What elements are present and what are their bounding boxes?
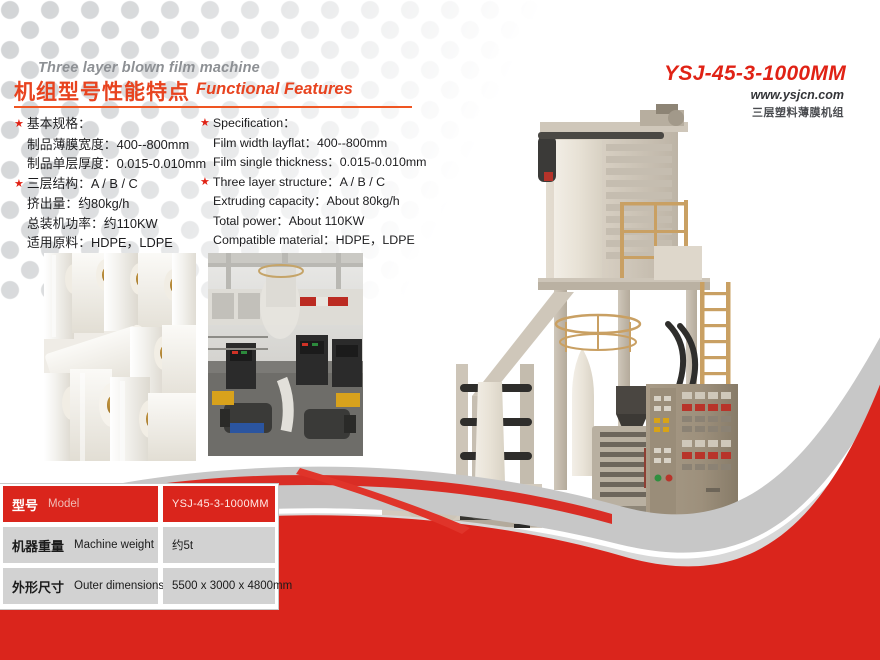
- spec-en-text: Compatible material：HDPE，LDPE: [213, 233, 415, 247]
- factory-photo: [208, 253, 363, 456]
- specifications-chinese: ★基本规格：制品薄膜宽度：400--800mm制品单层厚度：0.015-0.01…: [14, 114, 204, 253]
- star-bullet-icon: ★: [14, 178, 24, 190]
- spec-en-line: Compatible material：HDPE，LDPE: [200, 231, 415, 251]
- table-value: 5500 x 3000 x 4800mm: [172, 580, 292, 592]
- table-label-cell: 型号Model: [3, 486, 158, 522]
- star-bullet-icon: ★: [200, 176, 210, 188]
- spec-cn-text: 三层结构：A / B / C: [27, 176, 138, 191]
- spec-en-line: ★Specification：: [200, 114, 415, 134]
- page-title-en: Functional Features: [196, 80, 353, 99]
- table-label-cn: 外形尺寸: [12, 577, 64, 596]
- spec-en-line: Film single thickness：0.015-0.010mm: [200, 153, 415, 173]
- table-value: YSJ-45-3-1000MM: [172, 498, 269, 510]
- spec-en-text: Film width layflat：400--800mm: [213, 136, 387, 150]
- spec-cn-line: 制品薄膜宽度：400--800mm: [14, 135, 204, 155]
- spec-en-text: Total power：About 110KW: [213, 214, 364, 228]
- table-row: 型号ModelYSJ-45-3-1000MM: [3, 486, 275, 522]
- table-label-en: Outer dimensions: [74, 580, 164, 592]
- header-divider: [14, 106, 412, 108]
- spec-en-text: Specification：: [213, 116, 296, 130]
- spec-cn-line: 总装机功率：约110KW: [14, 214, 204, 234]
- spec-cn-text: 制品薄膜宽度：400--800mm: [27, 137, 189, 152]
- website-url: www.ysjcn.com: [751, 88, 844, 102]
- specifications-english: ★Specification：Film width layflat：400--8…: [200, 114, 415, 251]
- tagline: Three layer blown film machine: [38, 60, 260, 76]
- star-bullet-icon: ★: [14, 118, 24, 130]
- table-row: 外形尺寸Outer dimensions5500 x 3000 x 4800mm: [3, 568, 275, 604]
- table-value-cell: YSJ-45-3-1000MM: [163, 486, 275, 522]
- spec-table: 型号ModelYSJ-45-3-1000MM机器重量Machine weight…: [3, 486, 275, 609]
- subtitle-cn: 三层塑料薄膜机组: [752, 104, 844, 120]
- spec-cn-text: 总装机功率：约110KW: [27, 216, 158, 231]
- spec-en-line: ★Three layer structure：A / B / C: [200, 173, 415, 193]
- spec-cn-line: 挤出量：约80kg/h: [14, 194, 204, 214]
- machine-photo: [368, 96, 772, 528]
- spec-cn-line: ★三层结构：A / B / C: [14, 174, 204, 195]
- table-row: 机器重量Machine weight约5t: [3, 527, 275, 563]
- spec-cn-text: 挤出量：约80kg/h: [27, 196, 129, 211]
- table-label-cell: 外形尺寸Outer dimensions: [3, 568, 158, 604]
- spec-en-line: Total power：About 110KW: [200, 212, 415, 232]
- page-title-cn: 机组型号性能特点: [14, 76, 190, 106]
- spec-cn-line: ★基本规格：: [14, 114, 204, 135]
- model-number: YSJ-45-3-1000MM: [664, 62, 846, 86]
- spec-en-text: Extruding capacity：About 80kg/h: [213, 194, 400, 208]
- table-label-cell: 机器重量Machine weight: [3, 527, 158, 563]
- spec-cn-text: 基本规格：: [27, 116, 91, 131]
- film-rolls-photo: [44, 253, 196, 461]
- table-value: 约5t: [172, 537, 193, 553]
- table-label-en: Machine weight: [74, 539, 154, 551]
- table-label-en: Model: [48, 498, 79, 510]
- spec-cn-text: 制品单层厚度：0.015-0.010mm: [27, 156, 206, 171]
- table-value-cell: 约5t: [163, 527, 275, 563]
- spec-cn-line: 适用原料：HDPE，LDPE: [14, 233, 204, 253]
- table-value-cell: 5500 x 3000 x 4800mm: [163, 568, 275, 604]
- star-bullet-icon: ★: [200, 117, 210, 129]
- table-label-cn: 型号: [12, 495, 38, 514]
- table-label-cn: 机器重量: [12, 536, 64, 555]
- spec-en-text: Three layer structure：A / B / C: [213, 175, 385, 189]
- spec-cn-line: 制品单层厚度：0.015-0.010mm: [14, 154, 204, 174]
- spec-en-line: Film width layflat：400--800mm: [200, 134, 415, 154]
- spec-en-text: Film single thickness：0.015-0.010mm: [213, 155, 426, 169]
- spec-cn-text: 适用原料：HDPE，LDPE: [27, 235, 173, 250]
- brochure-page: Three layer blown film machine 机组型号性能特点 …: [0, 0, 880, 660]
- spec-en-line: Extruding capacity：About 80kg/h: [200, 192, 415, 212]
